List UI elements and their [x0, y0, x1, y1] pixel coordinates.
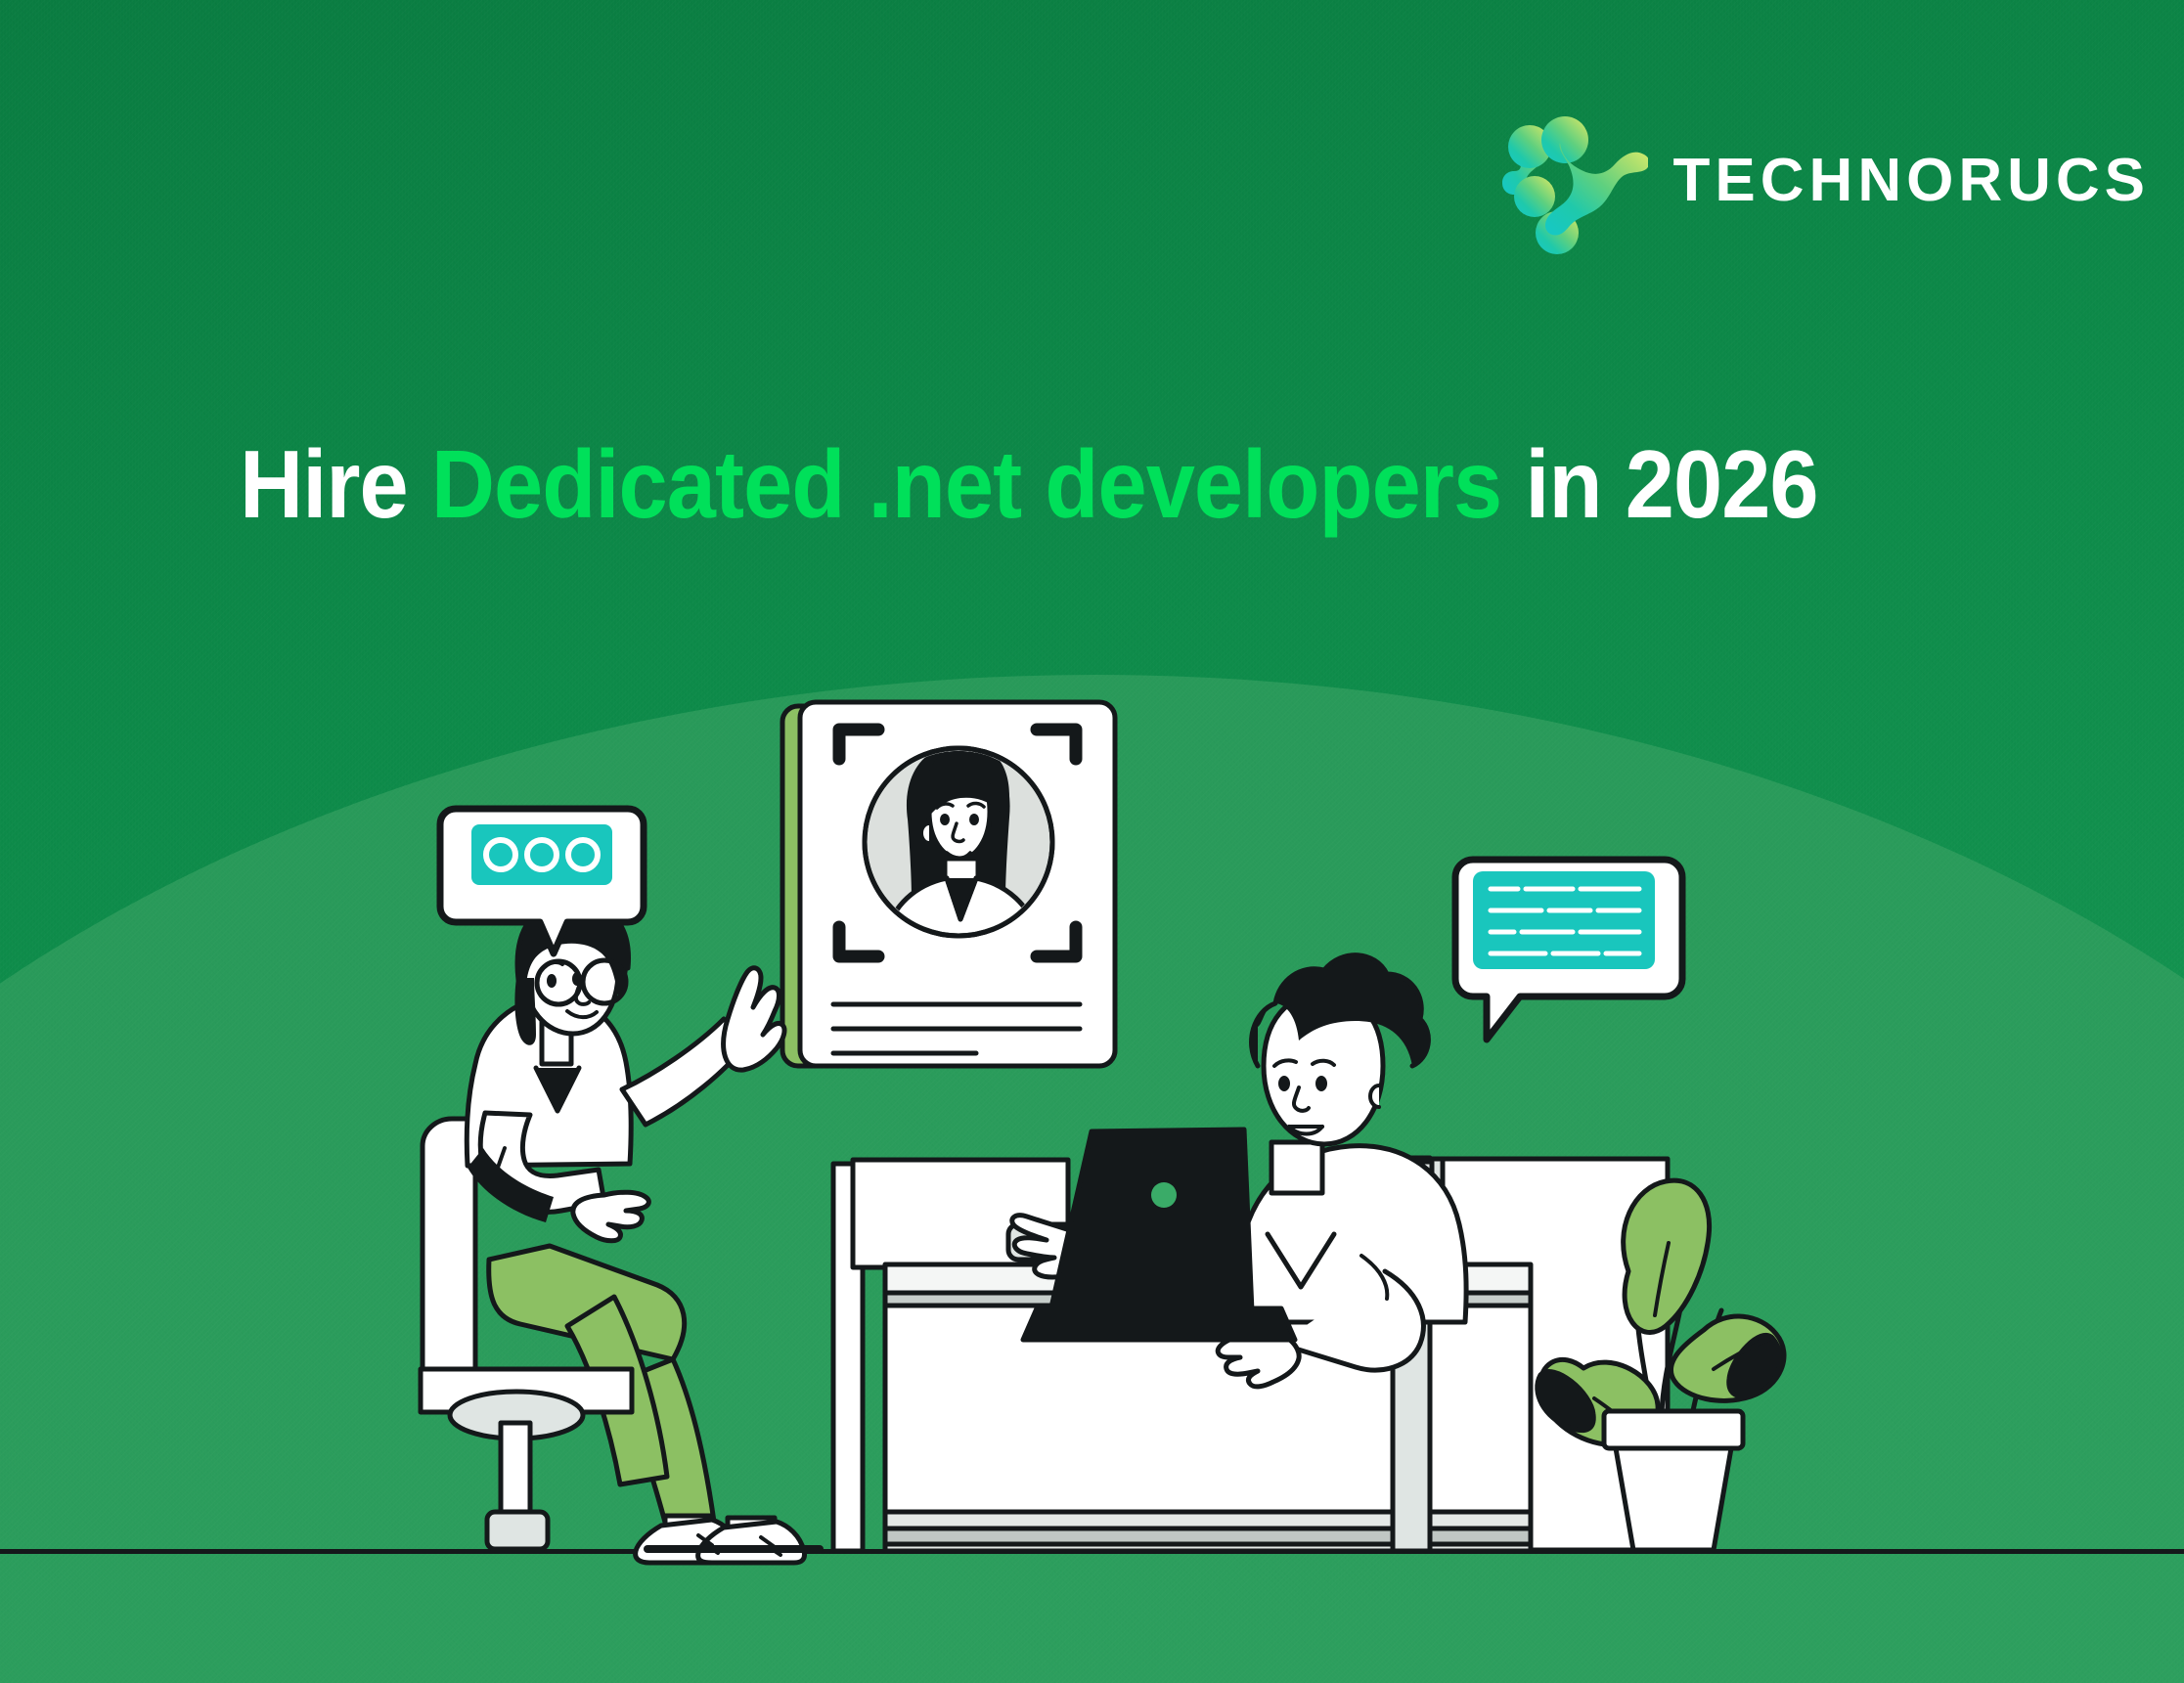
job-interview-illustration [0, 0, 2184, 1683]
promo-banner: TECHNORUCS Hire Dedicated .net developer… [0, 0, 2184, 1683]
text-chat-bubble [1455, 860, 1682, 1040]
resume-card [782, 702, 1115, 1066]
interviewer-woman [421, 902, 820, 1563]
